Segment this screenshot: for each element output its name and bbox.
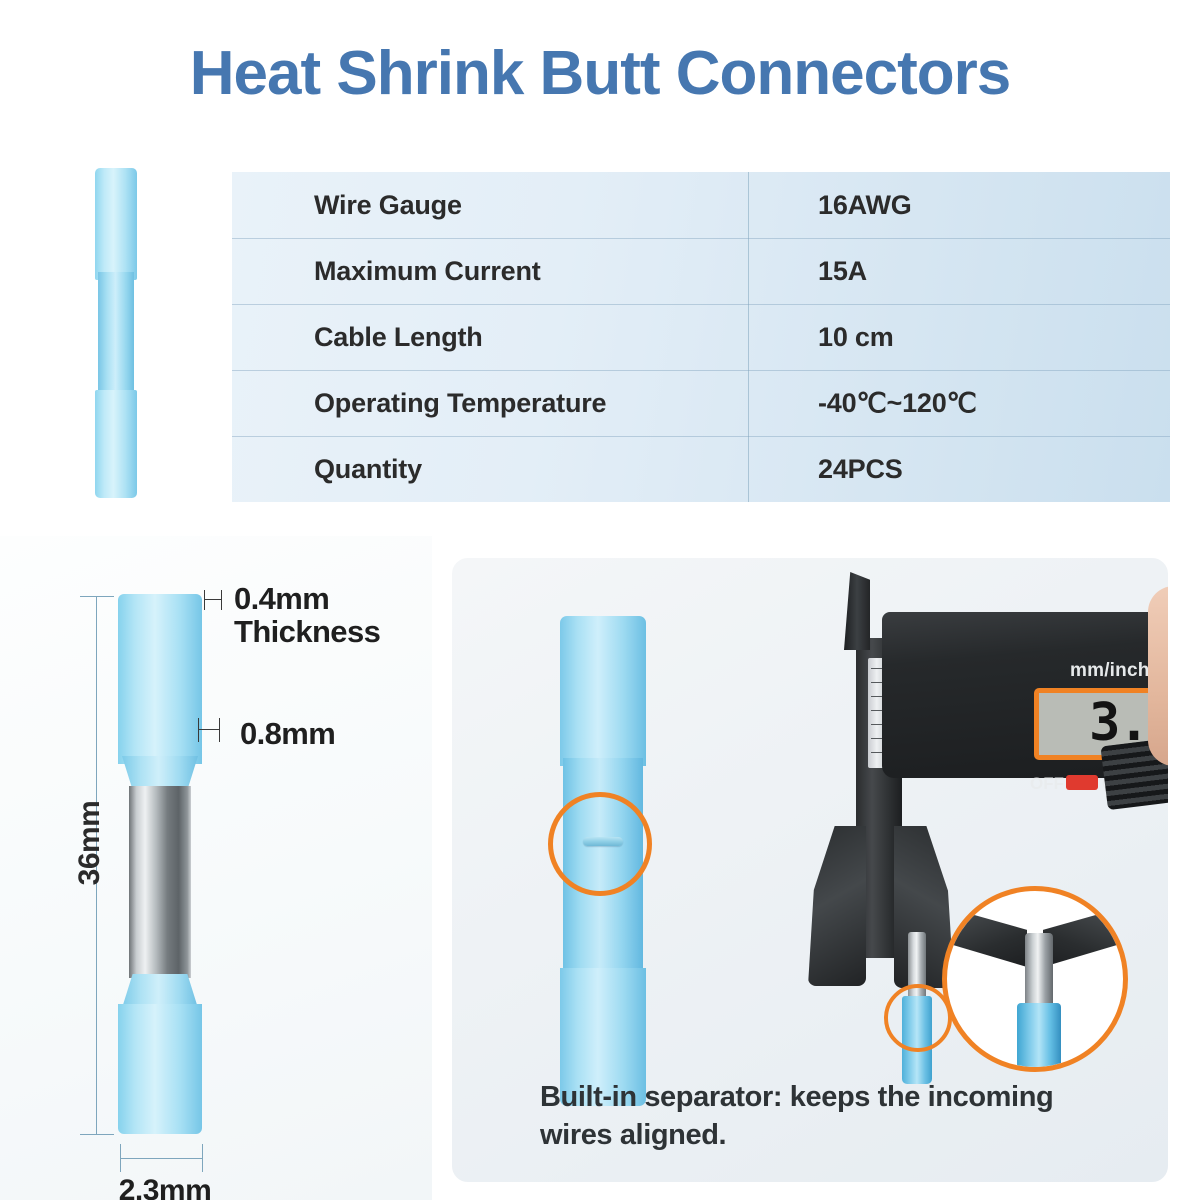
connector-middle	[98, 272, 134, 400]
inset-blue-sleeve	[1017, 1003, 1061, 1072]
cutaway-sleeve-top	[118, 594, 202, 764]
inset-jaw-left	[953, 909, 1027, 967]
caliper-bracket-icon-thickness	[204, 590, 222, 610]
table-row: Wire Gauge 16AWG	[232, 172, 1170, 238]
caliper-upper-jaw	[844, 572, 870, 650]
zoom-source-circle-icon	[884, 984, 952, 1052]
feature-connector-top	[560, 616, 646, 766]
spec-label-wire-gauge: Wire Gauge	[232, 190, 752, 221]
feature-panel-separator: mm/inch 3.8 mm OFF ON ZERO	[446, 552, 1174, 1188]
table-row: Quantity 24PCS	[232, 436, 1170, 502]
spec-table: Wire Gauge 16AWG Maximum Current 15A Cab…	[232, 172, 1170, 502]
spec-label-maximum-current: Maximum Current	[232, 256, 752, 287]
dimension-tick-bottom	[80, 1134, 114, 1135]
spec-value-cable-length: 10 cm	[752, 322, 1170, 353]
highlight-circle-icon	[548, 792, 652, 896]
dimension-label-width: 2.3mm	[100, 1174, 230, 1200]
spec-label-operating-temperature: Operating Temperature	[232, 388, 752, 419]
dimension-label-length: 36mm	[73, 783, 107, 903]
cutaway-taper-bottom	[122, 974, 198, 1008]
dimension-label-thickness-word: Thickness	[234, 615, 380, 648]
magnified-inset	[942, 886, 1128, 1072]
connector-body	[95, 168, 137, 498]
spec-value-maximum-current: 15A	[752, 256, 1170, 287]
spec-value-wire-gauge: 16AWG	[752, 190, 1170, 221]
inset-metal-pin	[1025, 933, 1053, 1011]
spec-value-operating-temperature: -40℃~120℃	[752, 388, 1170, 419]
dimension-label-thickness-value: 0.4mm	[234, 582, 380, 615]
dimension-tick-left	[120, 1144, 121, 1172]
spec-value-quantity: 24PCS	[752, 454, 1170, 485]
table-row: Maximum Current 15A	[232, 238, 1170, 304]
dimension-line-horizontal	[120, 1158, 202, 1159]
spec-label-quantity: Quantity	[232, 454, 752, 485]
feature-caption: Built-in separator: keeps the incoming w…	[540, 1078, 1100, 1155]
table-row: Cable Length 10 cm	[232, 304, 1170, 370]
dimension-label-thickness: 0.4mm Thickness	[234, 582, 380, 648]
inset-jaw-right	[1043, 909, 1117, 967]
page-title: Heat Shrink Butt Connectors	[0, 38, 1200, 109]
connector-flare-top	[95, 168, 137, 280]
connector-flare-bottom	[95, 390, 137, 498]
caliper-off-label: OFF	[1030, 774, 1064, 794]
dimension-tick-right	[202, 1144, 203, 1172]
spec-label-cable-length: Cable Length	[232, 322, 752, 353]
caliper-lower-jaw-left	[808, 826, 866, 986]
caliper-mode-label: mm/inch	[1070, 660, 1150, 682]
table-row: Operating Temperature -40℃~120℃	[232, 370, 1170, 436]
caliper-on-button[interactable]	[1066, 775, 1098, 790]
infographic-canvas: Heat Shrink Butt Connectors Wire Gauge 1…	[0, 0, 1200, 1200]
caliper-unit-label: mm	[1170, 715, 1174, 738]
cutaway-metal-barrel	[129, 786, 191, 978]
cutaway-sleeve-bottom	[118, 1004, 202, 1134]
product-photo-connector	[95, 168, 137, 498]
dimension-connector-cutaway	[118, 594, 202, 1134]
dimension-label-wall: 0.8mm	[240, 716, 335, 752]
caliper-bracket-icon-wall	[198, 718, 220, 742]
dimension-tick-top	[80, 596, 114, 597]
cutaway-taper-top	[122, 756, 198, 790]
hand-finger	[1148, 586, 1174, 766]
dimension-diagram-panel: 36mm 2.3mm 0.4mm Thickness 0.8mm	[0, 536, 432, 1200]
